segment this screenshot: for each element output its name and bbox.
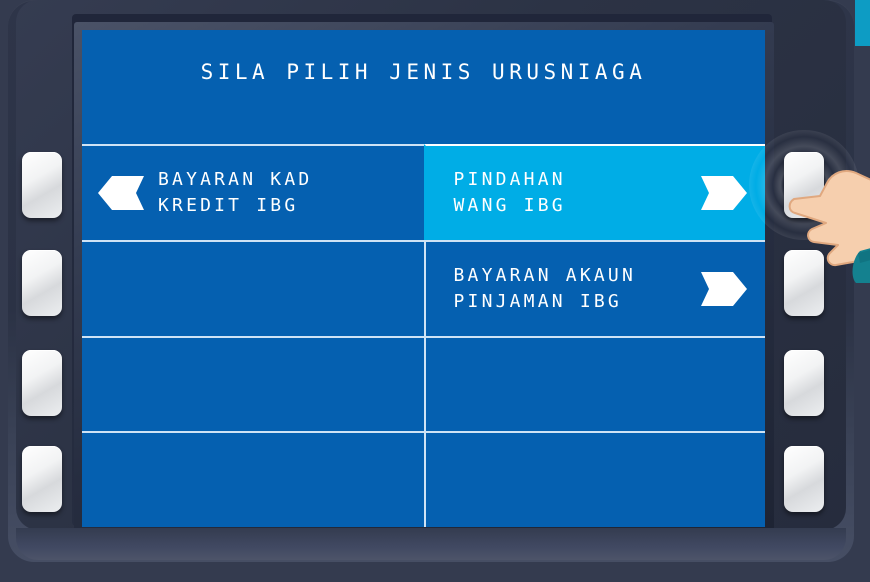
- right-button-4[interactable]: [784, 446, 824, 512]
- transaction-menu-grid: BAYARAN KAD KREDIT IBG PINDAHAN WANG IBG…: [82, 144, 765, 527]
- menu-cell-empty[interactable]: [82, 431, 424, 527]
- arrow-right-icon: [701, 272, 747, 306]
- menu-item-bayaran-kad-kredit-ibg[interactable]: BAYARAN KAD KREDIT IBG: [82, 144, 424, 240]
- left-button-2[interactable]: [22, 250, 62, 316]
- atm-machine-body: SILA PILIH JENIS URUSNIAGA BAYARAN KAD K…: [8, 0, 854, 562]
- menu-cell-empty[interactable]: [424, 431, 766, 527]
- page-title: SILA PILIH JENIS URUSNIAGA: [201, 60, 647, 84]
- menu-item-bayaran-akaun-pinjaman-ibg[interactable]: BAYARAN AKAUN PINJAMAN IBG: [424, 240, 766, 336]
- atm-screen: SILA PILIH JENIS URUSNIAGA BAYARAN KAD K…: [82, 30, 765, 527]
- right-button-2[interactable]: [784, 250, 824, 316]
- menu-cell-empty[interactable]: [424, 336, 766, 432]
- page-background: SILA PILIH JENIS URUSNIAGA BAYARAN KAD K…: [0, 0, 870, 582]
- menu-item-pindahan-wang-ibg[interactable]: PINDAHAN WANG IBG: [424, 144, 766, 240]
- screen-header: SILA PILIH JENIS URUSNIAGA: [82, 30, 765, 144]
- menu-cell-empty[interactable]: [82, 336, 424, 432]
- menu-item-label: BAYARAN AKAUN PINJAMAN IBG: [454, 263, 702, 315]
- console-shelf: [16, 528, 846, 560]
- arrow-left-icon: [98, 176, 144, 210]
- left-button-4[interactable]: [22, 446, 62, 512]
- left-button-3[interactable]: [22, 350, 62, 416]
- menu-cell-empty[interactable]: [82, 240, 424, 336]
- menu-item-label: BAYARAN KAD KREDIT IBG: [158, 167, 312, 219]
- corner-accent-block: [855, 0, 870, 46]
- left-button-1[interactable]: [22, 152, 62, 218]
- right-button-1[interactable]: [784, 152, 824, 218]
- right-button-3[interactable]: [784, 350, 824, 416]
- menu-item-label: PINDAHAN WANG IBG: [454, 167, 702, 219]
- arrow-right-icon: [701, 176, 747, 210]
